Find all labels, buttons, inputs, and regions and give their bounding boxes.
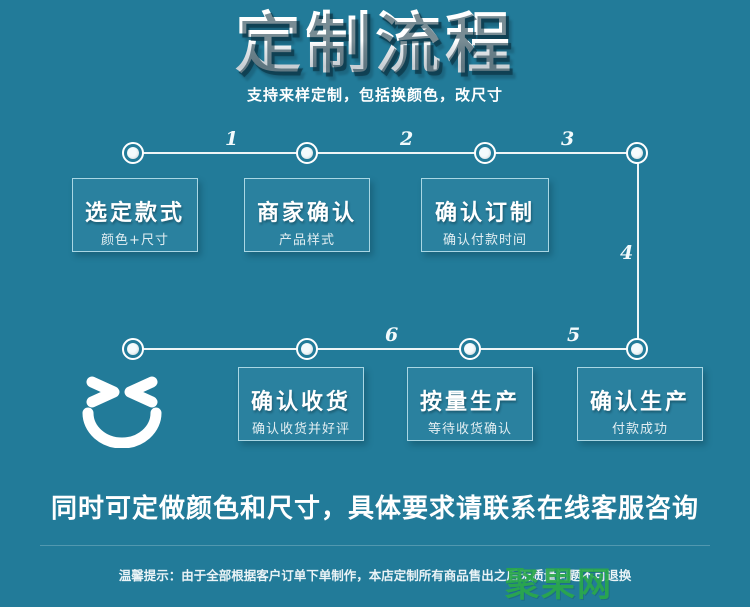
- flow-step-sub-3: 确认付款时间: [422, 229, 548, 248]
- smiley-face-icon: [80, 368, 190, 448]
- connector-label-5: 5: [567, 324, 580, 346]
- flow-step-title-3: 确认订制: [422, 195, 548, 227]
- flow-step-title-6: 确认收货: [239, 384, 363, 416]
- flow-step-title-5: 按量生产: [408, 384, 532, 416]
- flow-node-top-4: [626, 142, 648, 164]
- page-title: 定制流程: [0, 4, 750, 84]
- header: 定制流程 支持来样定制，包括换颜色，改尺寸: [0, 0, 750, 120]
- connector-label-4: 4: [620, 242, 633, 264]
- connector-label-6: 6: [385, 324, 398, 346]
- flow-step-box-2[interactable]: 商家确认 产品样式: [244, 178, 370, 252]
- flow-step-title-2: 商家确认: [245, 195, 369, 227]
- connector-label-3: 3: [561, 128, 574, 150]
- flow-step-sub-6: 确认收货并好评: [239, 418, 363, 437]
- flow-node-bottom-2: [296, 338, 318, 360]
- footer-divider: [40, 545, 710, 546]
- connector-line-top: [133, 152, 639, 154]
- footer-note: 温馨提示：由于全部根据客户订单下单制作，本店定制所有商品售出之后无质量问题不可退…: [0, 565, 750, 584]
- connector-line-right: [637, 152, 639, 348]
- flow-step-box-5[interactable]: 按量生产 等待收货确认: [407, 367, 533, 441]
- flow-step-sub-4: 付款成功: [578, 418, 702, 437]
- flow-step-title-1: 选定款式: [73, 195, 197, 227]
- flow-step-box-3[interactable]: 确认订制 确认付款时间: [421, 178, 549, 252]
- flow-step-sub-5: 等待收货确认: [408, 418, 532, 437]
- flow-node-bottom-1: [122, 338, 144, 360]
- flow-step-sub-2: 产品样式: [245, 229, 369, 248]
- footer-headline: 同时可定做颜色和尺寸，具体要求请联系在线客服咨询: [0, 488, 750, 525]
- flow-step-box-4[interactable]: 确认生产 付款成功: [577, 367, 703, 441]
- connector-line-bottom: [133, 348, 639, 350]
- connector-label-2: 2: [400, 128, 413, 150]
- connector-label-1: 1: [225, 128, 238, 150]
- flow-node-top-1: [122, 142, 144, 164]
- flow-step-box-1[interactable]: 选定款式 颜色+尺寸: [72, 178, 198, 252]
- flow-step-sub-1: 颜色+尺寸: [73, 229, 197, 248]
- flow-node-top-3: [474, 142, 496, 164]
- flow-node-bottom-3: [459, 338, 481, 360]
- page-subtitle: 支持来样定制，包括换颜色，改尺寸: [0, 84, 750, 105]
- flow-step-box-6[interactable]: 确认收货 确认收货并好评: [238, 367, 364, 441]
- flow-node-bottom-4: [626, 338, 648, 360]
- flow-step-title-4: 确认生产: [578, 384, 702, 416]
- site-watermark: 聚果网: [505, 557, 613, 606]
- flow-node-top-2: [296, 142, 318, 164]
- promo-banner: 定制流程 支持来样定制，包括换颜色，改尺寸 1 2 3 4 5 6 选定款式 颜…: [0, 0, 750, 607]
